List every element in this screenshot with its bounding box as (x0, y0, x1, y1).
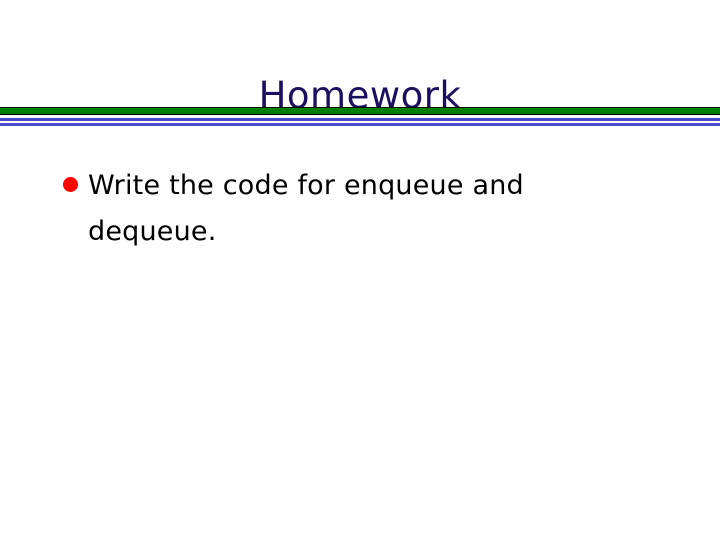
divider-blue-line-1 (0, 118, 720, 121)
body-content: Write the code for enqueue and dequeue. (56, 163, 676, 255)
bullet-circle-icon (63, 177, 78, 192)
list-item: Write the code for enqueue and dequeue. (56, 163, 676, 255)
slide: Homework Write the code for enqueue and … (0, 0, 720, 540)
divider-edge-bottom (0, 114, 720, 115)
list-item-label: Write the code for enqueue and dequeue. (88, 163, 588, 255)
title-divider (0, 107, 720, 127)
title-area: Homework (0, 48, 720, 144)
divider-blue-line-2 (0, 123, 720, 126)
